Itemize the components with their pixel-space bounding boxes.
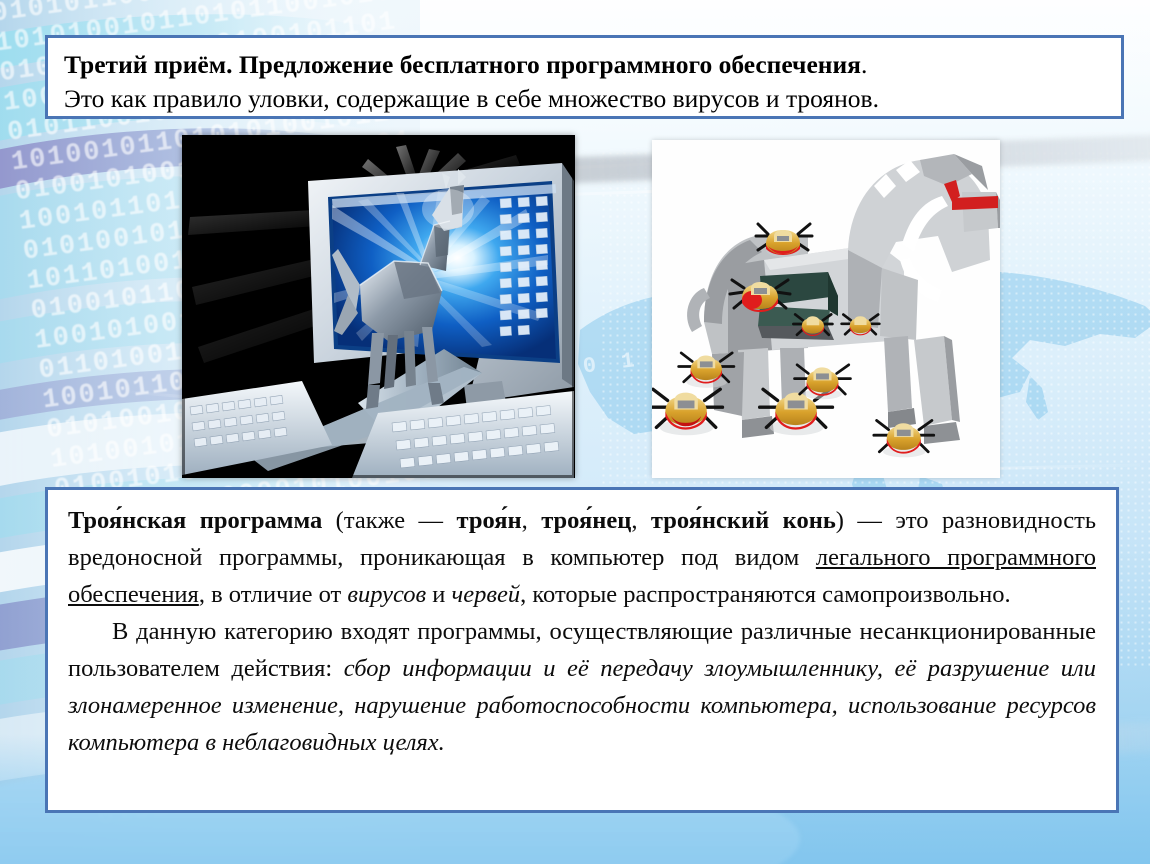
technique-heading-panel: Третий приём. Предложение бесплатного пр… [45, 35, 1124, 119]
term-viruses: вирусов [347, 581, 426, 608]
p1-seg14: , которые распространяются самопроизволь… [520, 581, 1010, 608]
heading-line-1: Третий приём. Предложение бесплатного пр… [64, 48, 1107, 82]
p1-seg10: , в отличие от [199, 581, 348, 608]
heading-line-2: Это как правило уловки, содержащие в себ… [64, 82, 1107, 116]
term-trojan-program: Троя́нская программа [68, 507, 322, 534]
trojan-definition-panel: Троя́нская программа (также — троя́н, тр… [45, 487, 1119, 813]
definition-paragraph-1: Троя́нская программа (также — троя́н, тр… [68, 502, 1096, 613]
trojan-horse-releasing-bugs [652, 140, 1000, 478]
term-troyan: троя́н [457, 507, 522, 534]
definition-paragraph-2: В данную категорию входят программы, осу… [68, 613, 1096, 761]
slide-canvas: 0101011001010010100101101010010110101100… [0, 0, 1150, 864]
term-worms: червей [452, 581, 521, 608]
heading-line-1-bold: Третий приём. Предложение бесплатного пр… [64, 50, 861, 79]
p1-seg12: и [426, 581, 451, 608]
p1-seg6: , [631, 507, 651, 534]
term-trojan-horse: троя́нский конь [651, 507, 836, 534]
trojan-horse-emerging-from-monitor [182, 135, 575, 478]
p1-seg4: , [522, 507, 542, 534]
p1-seg2: (также — [322, 507, 456, 534]
heading-line-1-period: . [861, 50, 867, 79]
term-troyanets: троя́нец [541, 507, 631, 534]
